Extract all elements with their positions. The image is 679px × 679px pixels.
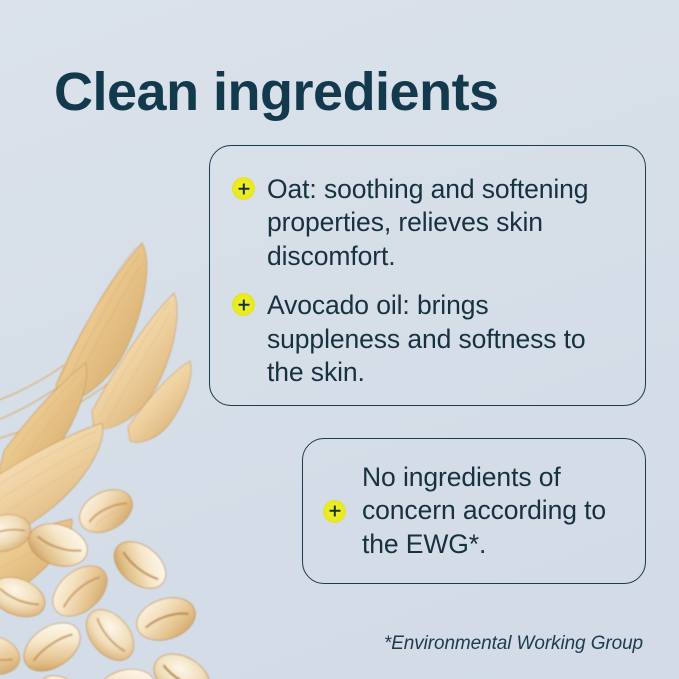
plus-icon: [232, 177, 255, 200]
footnote: *Environmental Working Group: [384, 633, 643, 655]
plus-icon: [323, 500, 346, 523]
ingredients-card: Oat: soothing and softening properties, …: [209, 145, 646, 406]
list-item: Avocado oil: brings suppleness and softn…: [232, 289, 623, 389]
ingredient-oat-text: Oat: soothing and softening properties, …: [267, 173, 623, 273]
ingredient-avocado-oil-text: Avocado oil: brings suppleness and softn…: [267, 289, 623, 389]
plus-icon: [232, 293, 255, 316]
ewg-claim-card: No ingredients of concern according to t…: [302, 438, 646, 584]
ewg-claim-text: No ingredients of concern according to t…: [362, 461, 627, 561]
promo-panel: Clean ingredients Oat: soothing and soft…: [0, 0, 679, 679]
page-title: Clean ingredients: [54, 64, 499, 121]
list-item: Oat: soothing and softening properties, …: [232, 173, 623, 273]
